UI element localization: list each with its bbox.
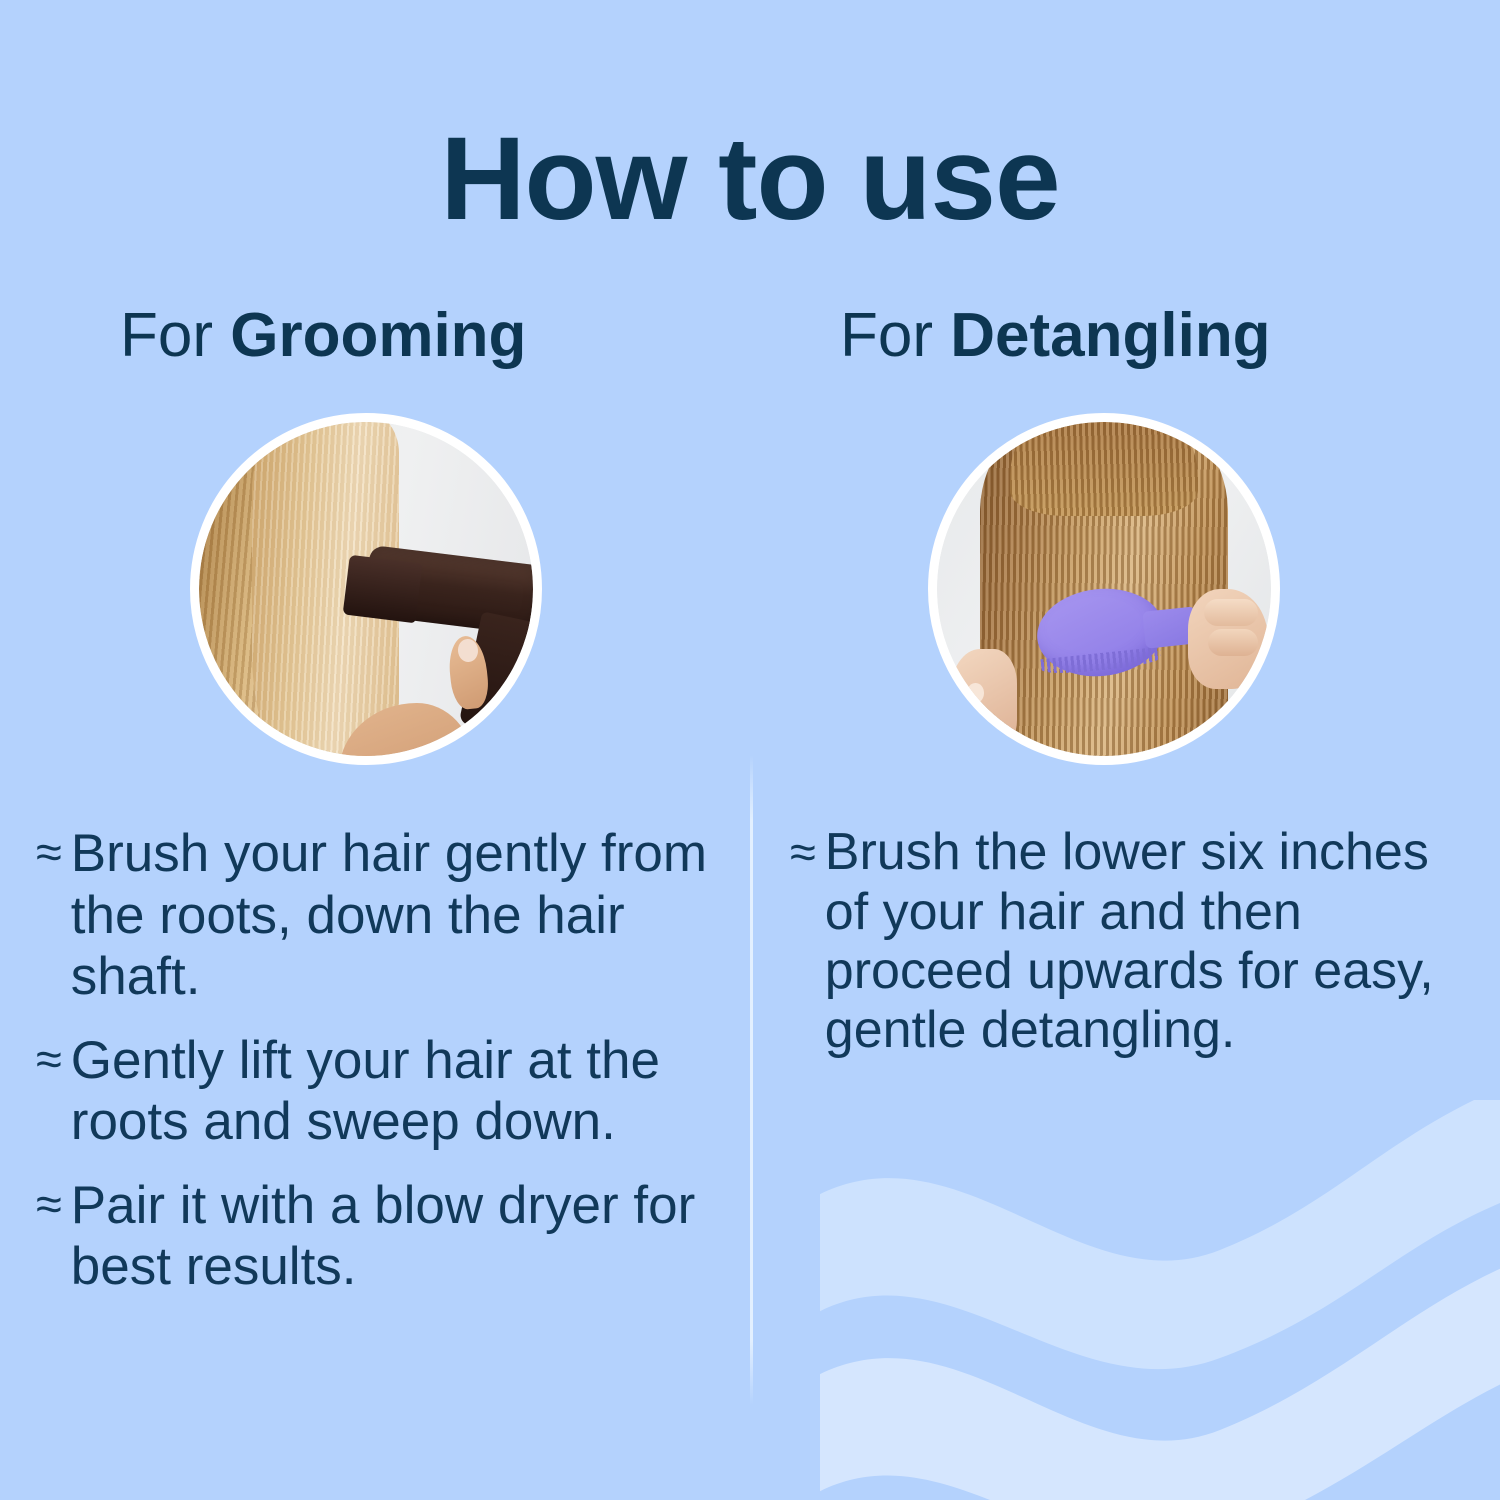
column-heading-prefix: For: [840, 301, 950, 370]
how-to-use-infographic: How to use For Grooming ≈ Brush yo: [0, 0, 1500, 1500]
blow-dryer-nozzle-icon: [343, 555, 423, 624]
wave-bullet-icon: ≈: [790, 823, 816, 882]
column-detangling: For Detangling ≈ Brush the lower: [780, 300, 1480, 1082]
column-heading-detangling: For Detangling: [780, 300, 1480, 371]
photo-grooming: [190, 413, 542, 765]
column-heading-prefix: For: [120, 301, 230, 370]
decorative-waves: [820, 1100, 1500, 1500]
list-item-text: Brush the lower six inches of your hair …: [825, 823, 1480, 1060]
photo-grooming-image: [199, 422, 533, 756]
column-grooming: For Grooming ≈ Brush your hair gently fr…: [20, 300, 720, 1320]
fingernail-shape: [967, 713, 984, 733]
list-item-text: Pair it with a blow dryer for best resul…: [71, 1175, 720, 1298]
bullet-list-detangling: ≈ Brush the lower six inches of your hai…: [780, 823, 1480, 1060]
left-hand-shape: [950, 649, 1017, 749]
page-title: How to use: [0, 118, 1500, 242]
finger-shape: [1208, 629, 1258, 656]
finger-shape: [1204, 599, 1257, 626]
column-heading-grooming: For Grooming: [20, 300, 720, 371]
photo-detangling-image: [937, 422, 1271, 756]
wave-bullet-icon: ≈: [36, 1030, 62, 1089]
list-item: ≈ Brush the lower six inches of your hai…: [790, 823, 1480, 1060]
column-heading-emphasis: Grooming: [230, 301, 526, 370]
fingernail-shape: [967, 683, 984, 703]
list-item-text: Gently lift your hair at the roots and s…: [71, 1030, 720, 1153]
wave-bullet-icon: ≈: [36, 1175, 62, 1234]
list-item: ≈ Gently lift your hair at the roots and…: [36, 1030, 720, 1153]
wave-bullet-icon: ≈: [36, 823, 62, 882]
photo-detangling: [928, 413, 1280, 765]
wet-hair-crown-icon: [1010, 422, 1197, 516]
column-heading-emphasis: Detangling: [950, 301, 1270, 370]
list-item: ≈ Brush your hair gently from the roots,…: [36, 823, 720, 1007]
list-item: ≈ Pair it with a blow dryer for best res…: [36, 1175, 720, 1298]
list-item-text: Brush your hair gently from the roots, d…: [71, 823, 720, 1007]
bullet-list-grooming: ≈ Brush your hair gently from the roots,…: [20, 823, 720, 1297]
column-divider: [750, 755, 753, 1405]
